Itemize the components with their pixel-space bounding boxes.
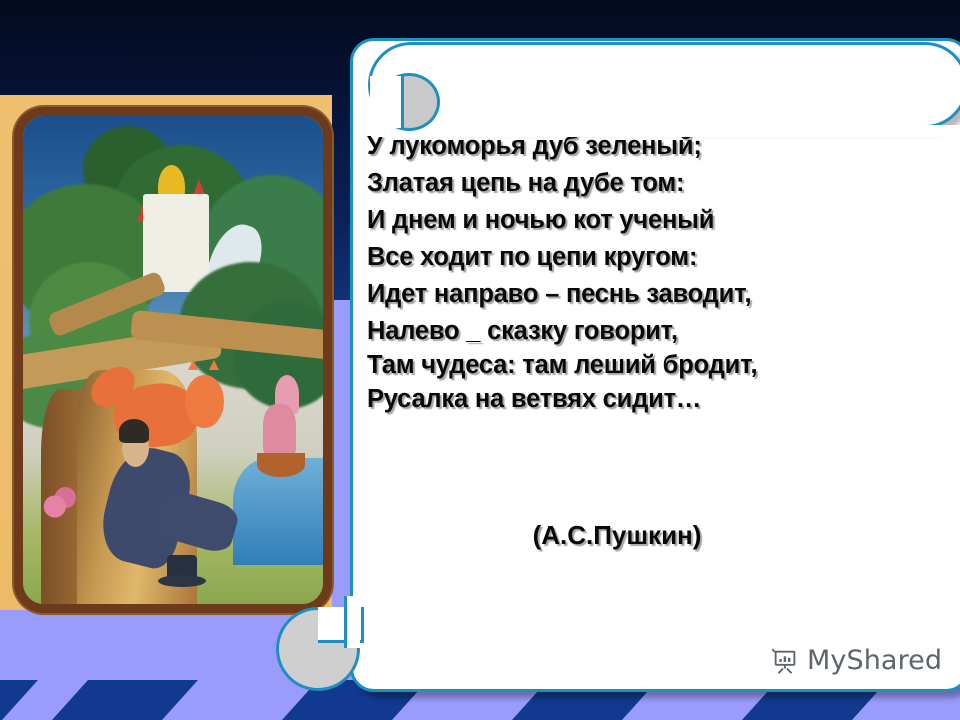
watermark-label: MyShared xyxy=(807,645,942,676)
scene-cat-ear xyxy=(209,360,219,370)
scene-ship-hull xyxy=(257,453,305,477)
slide-canvas: У лукоморья дуб зеленый; Златая цепь на … xyxy=(0,0,960,720)
poem-text: У лукоморья дуб зеленый; Златая цепь на … xyxy=(367,128,907,418)
illustration-panel xyxy=(0,95,332,610)
capsule-mask xyxy=(372,125,960,137)
poem-line: И днем и ночью кот ученый xyxy=(367,202,907,239)
bottom-circle-stem xyxy=(344,596,360,648)
poem-line: Златая цепь на дубе том: xyxy=(367,165,907,202)
poem-line: Русалка на ветвях сидит… xyxy=(367,381,907,418)
scene-ship-sail xyxy=(263,404,296,458)
scene-pushkin-hair xyxy=(119,419,149,443)
myshared-watermark: MyShared xyxy=(770,645,942,676)
poem-line: Идет направо – песнь заводит, xyxy=(367,276,907,313)
scene-pushkin-hat-brim xyxy=(158,575,206,587)
poem-line: Там чудеса: там леший бродит, xyxy=(367,350,907,381)
illustration-frame xyxy=(14,107,332,613)
scene-cat-head xyxy=(185,375,224,429)
presentation-chart-icon xyxy=(770,646,800,676)
card-left-edge xyxy=(350,130,356,608)
capsule-notch xyxy=(370,76,404,128)
scene-cat-ear xyxy=(188,360,198,370)
poem-line: Налево _ сказку говорит, xyxy=(367,313,907,350)
top-capsule-bar xyxy=(368,42,960,128)
scene-flowers xyxy=(38,477,80,536)
poem-line: Все ходит по цепи кругом: xyxy=(367,239,907,276)
poem-attribution: (А.С.Пушкин) xyxy=(367,520,867,551)
illustration-scene xyxy=(23,116,323,604)
